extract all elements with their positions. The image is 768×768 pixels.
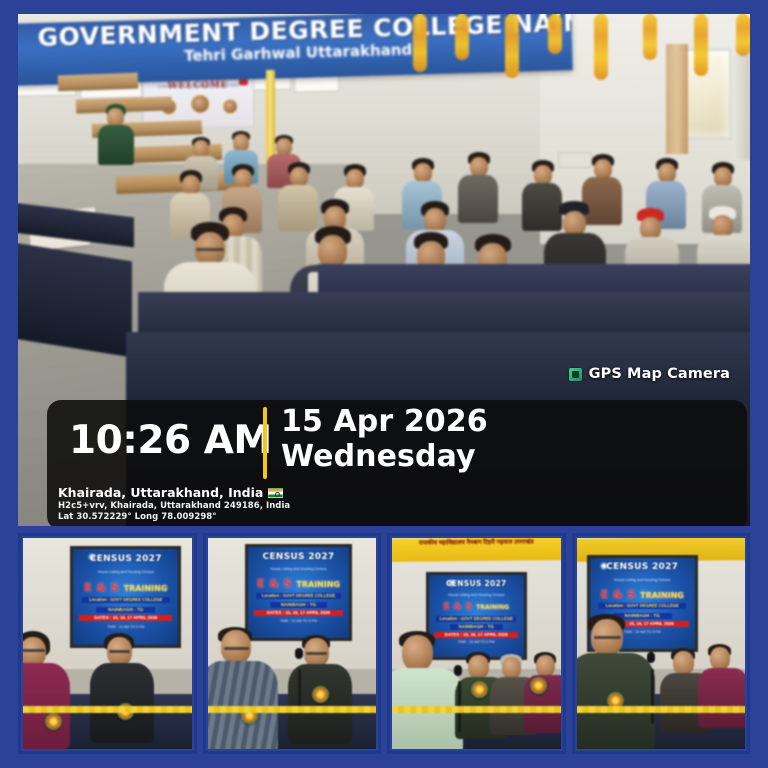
slide-venue: NAINBAGH - TG bbox=[450, 624, 503, 630]
thumbnail-1[interactable]: CENSUS 2027 House Listing and Housing Ce… bbox=[18, 533, 197, 754]
marigold-garland bbox=[505, 14, 519, 78]
slide-dates: DATES : 15, 16, 17 APRIL 2026 bbox=[79, 615, 172, 621]
gps-coordinates: Lat 30.572229° Long 78.009298° bbox=[58, 512, 217, 522]
table-drape bbox=[208, 706, 377, 713]
marigold-garland bbox=[594, 14, 608, 80]
projector-screen: CENSUS 2027 House Listing and Housing Ce… bbox=[70, 546, 181, 647]
side-table bbox=[18, 243, 132, 358]
photo-collage: GOVERNMENT DEGREE COLLEGE NAINBAGH TEHRI… bbox=[0, 0, 768, 768]
projector-screen: CENSUS 2027 House Listing and Housing Ce… bbox=[245, 544, 353, 641]
window-curtain bbox=[666, 44, 688, 154]
empty-bench bbox=[58, 73, 139, 92]
wall-pillar bbox=[734, 40, 750, 160]
marigold-garland bbox=[643, 14, 657, 60]
microphone-stand bbox=[651, 669, 654, 724]
slide-location: Location : GOVT DEGREE COLLEGE bbox=[256, 593, 342, 599]
table-drape bbox=[577, 706, 746, 713]
slide-time: TIME : 10 AM TO 5 PM bbox=[248, 619, 350, 624]
marigold-garland bbox=[548, 14, 562, 54]
main-photo[interactable]: GOVERNMENT DEGREE COLLEGE NAINBAGH TEHRI… bbox=[18, 14, 750, 526]
table-drape bbox=[392, 706, 561, 713]
microphone-icon bbox=[454, 665, 462, 676]
slide-dates: DATES : 15, 16, 17 APRIL 2026 bbox=[254, 610, 344, 616]
slide-title: CENSUS 2027 bbox=[248, 552, 350, 562]
slide-dates: DATES : 15, 16, 17 APRIL 2026 bbox=[434, 632, 518, 638]
gps-date: 15 Apr 2026 bbox=[281, 404, 488, 439]
ribbon-badge bbox=[45, 713, 62, 730]
table-drape bbox=[23, 706, 192, 713]
marigold-garland bbox=[694, 14, 708, 76]
slide-venue: NAINBAGH - TG bbox=[96, 607, 155, 613]
microphone-icon bbox=[295, 648, 303, 659]
slide-program: E & S TRAINING bbox=[73, 581, 178, 594]
hindi-banner: राजकीय महाविद्यालय नैनबाग टिहरी गढ़वाल उ… bbox=[390, 537, 563, 562]
slide-location: Location : GOVT DEGREE COLLEGE bbox=[598, 603, 686, 609]
gps-divider bbox=[263, 407, 267, 479]
slide-subtitle: House Listing and Housing Census bbox=[590, 578, 695, 582]
india-flag-icon bbox=[268, 488, 283, 498]
marigold-garland bbox=[413, 14, 427, 72]
gps-map-camera-label: GPS Map Camera bbox=[589, 366, 730, 382]
slide-time: TIME : 10 AM TO 5 PM bbox=[73, 625, 178, 630]
slide-location: Location : GOVT DEGREE COLLEGE bbox=[82, 597, 170, 603]
thumbnail-2[interactable]: CENSUS 2027 House Listing and Housing Ce… bbox=[203, 533, 382, 754]
slide-program: E & S TRAINING bbox=[248, 577, 350, 590]
gps-place: Khairada, Uttarakhand, India bbox=[58, 485, 283, 500]
poster-portrait bbox=[223, 99, 237, 113]
slide-time: TIME : 10 AM TO 5 PM bbox=[429, 640, 524, 645]
slide-program: E & S TRAINING bbox=[590, 588, 695, 601]
projector-screen: CENSUS 2027 House Listing and Housing Ce… bbox=[426, 572, 527, 661]
thumbnail-strip: CENSUS 2027 House Listing and Housing Ce… bbox=[18, 533, 750, 754]
slide-title: CENSUS 2027 bbox=[429, 579, 524, 588]
gps-time: 10:26 AM bbox=[69, 419, 272, 463]
wall-vent bbox=[558, 152, 592, 168]
poster-portrait bbox=[191, 95, 209, 113]
marigold-garland bbox=[455, 14, 469, 60]
slide-venue: NAINBAGH - TG bbox=[270, 602, 327, 608]
slide-subtitle: House Listing and Housing Census bbox=[248, 567, 350, 571]
slide-location: Location : GOVT DEGREE COLLEGE bbox=[436, 616, 516, 622]
slide-subtitle: House Listing and Housing Census bbox=[429, 593, 524, 597]
yellow-pillar bbox=[266, 70, 275, 166]
slide-subtitle: House Listing and Housing Census bbox=[73, 570, 178, 574]
slide-program: E & S TRAINING bbox=[429, 602, 524, 612]
gps-map-camera-watermark: GPS Map Camera bbox=[569, 366, 730, 382]
gps-map-camera-icon bbox=[569, 368, 582, 381]
microphone-icon bbox=[647, 652, 655, 663]
marigold-garland bbox=[736, 14, 750, 56]
slide-title: CENSUS 2027 bbox=[590, 562, 695, 572]
thumbnail-3[interactable]: राजकीय महाविद्यालय नैनबाग टिहरी गढ़वाल उ… bbox=[387, 533, 566, 754]
gps-address: H2c5+vrv, Khairada, Uttarakhand 249186, … bbox=[58, 501, 290, 511]
gps-day: Wednesday bbox=[281, 439, 476, 474]
gps-stamp-panel: 10:26 AM 15 Apr 2026 Wednesday Khairada,… bbox=[47, 400, 747, 526]
slide-title: CENSUS 2027 bbox=[73, 554, 178, 564]
gps-place-label: Khairada, Uttarakhand, India bbox=[58, 485, 263, 500]
thumbnail-4[interactable]: CENSUS 2027 House Listing and Housing Ce… bbox=[572, 533, 751, 754]
ribbon-badge bbox=[312, 686, 329, 703]
